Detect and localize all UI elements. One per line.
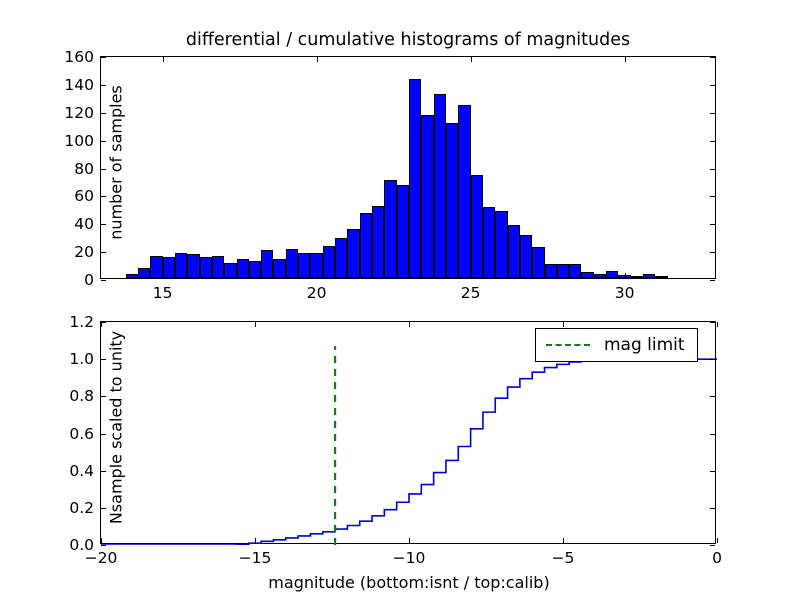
top-y-tick	[101, 224, 106, 225]
histogram-bar	[508, 225, 520, 278]
top-y-tick	[710, 141, 715, 142]
histogram-bar	[483, 207, 495, 278]
bottom-x-tick	[409, 322, 410, 327]
bottom-y-tick	[101, 359, 106, 360]
histogram-bar	[520, 235, 532, 278]
top-y-tick-label: 140	[64, 76, 94, 94]
histogram-bar	[397, 185, 409, 278]
histogram-bar	[495, 211, 507, 278]
top-histogram-axes: 02040608010012014016015202530 number of …	[100, 56, 716, 279]
histogram-bar	[163, 257, 175, 278]
histogram-bar	[249, 261, 261, 278]
histogram-bar	[421, 115, 433, 278]
top-y-tick-label: 120	[64, 104, 94, 122]
bottom-y-tick	[101, 396, 106, 397]
bottom-y-tick-label: 0.4	[69, 462, 94, 480]
histogram-bar	[298, 253, 310, 278]
bottom-y-tick-label: 0.8	[69, 387, 94, 405]
histogram-bar	[335, 238, 347, 278]
histogram-bar	[446, 123, 458, 278]
bottom-x-tick	[563, 538, 564, 543]
histogram-bar	[532, 247, 544, 278]
histogram-bar	[273, 259, 285, 279]
bottom-y-tick	[710, 545, 715, 546]
top-x-tick	[317, 57, 318, 62]
histogram-bar	[200, 257, 212, 278]
figure-canvas: differential / cumulative histograms of …	[0, 0, 800, 600]
bottom-x-tick-label: −10	[393, 549, 426, 567]
top-y-tick	[101, 141, 106, 142]
chart-title: differential / cumulative histograms of …	[100, 30, 716, 50]
histogram-bar	[237, 259, 249, 279]
bottom-x-tick	[717, 322, 718, 327]
top-x-tick	[471, 57, 472, 62]
histogram-bar	[434, 94, 446, 278]
histogram-bar	[187, 254, 199, 278]
bottom-y-tick	[710, 359, 715, 360]
histogram-bar	[471, 175, 483, 278]
bottom-x-tick	[255, 538, 256, 543]
histogram-bar	[631, 276, 643, 278]
legend: mag limit	[535, 328, 698, 362]
top-y-tick	[710, 85, 715, 86]
top-x-tick-label: 15	[153, 284, 173, 302]
top-y-tick	[710, 224, 715, 225]
cumulative-step-line	[101, 359, 717, 545]
bottom-y-tick	[101, 545, 106, 546]
top-y-tick	[710, 113, 715, 114]
bottom-y-tick-label: 0.2	[69, 499, 94, 517]
histogram-bar	[175, 253, 187, 278]
top-y-tick	[710, 169, 715, 170]
histogram-bar	[581, 272, 593, 278]
bottom-x-tick-label: −5	[552, 549, 575, 567]
bottom-y-tick	[710, 508, 715, 509]
top-y-tick	[101, 113, 106, 114]
top-y-tick-label: 160	[64, 48, 94, 66]
histogram-bar	[643, 274, 655, 278]
bottom-x-tick	[101, 322, 102, 327]
histogram-bar	[606, 271, 618, 278]
bottom-x-tick	[255, 322, 256, 327]
top-x-tick	[471, 273, 472, 278]
top-x-tick	[163, 57, 164, 62]
top-y-tick-label: 0	[84, 271, 94, 289]
top-x-tick-label: 30	[615, 284, 635, 302]
bottom-x-tick	[101, 538, 102, 543]
bottom-x-axis-label: magnitude (bottom:isnt / top:calib)	[101, 573, 717, 592]
top-y-tick	[101, 252, 106, 253]
top-y-tick	[710, 252, 715, 253]
bottom-y-tick	[101, 471, 106, 472]
histogram-bar	[569, 264, 581, 278]
top-y-tick	[710, 280, 715, 281]
histogram-bar	[126, 274, 138, 278]
top-plot-area: 02040608010012014016015202530	[101, 57, 715, 278]
top-y-tick	[101, 85, 106, 86]
mag-limit-legend-swatch-icon	[546, 344, 590, 346]
histogram-bar	[261, 250, 273, 278]
bottom-x-tick	[717, 538, 718, 543]
top-y-tick-label: 40	[74, 215, 94, 233]
bottom-x-tick-label: 0	[712, 549, 722, 567]
bottom-x-tick	[409, 538, 410, 543]
bottom-y-tick-label: 1.2	[69, 313, 94, 331]
top-y-tick	[710, 196, 715, 197]
top-y-tick	[101, 169, 106, 170]
histogram-bar	[150, 256, 162, 278]
top-y-tick-label: 80	[74, 160, 94, 178]
histogram-bar	[224, 263, 236, 278]
histogram-bar	[286, 249, 298, 278]
top-x-tick-label: 25	[461, 284, 481, 302]
top-y-tick-label: 20	[74, 243, 94, 261]
histogram-bar	[655, 276, 667, 278]
histogram-bar	[458, 105, 470, 278]
histogram-bar	[384, 180, 396, 278]
top-y-tick	[710, 57, 715, 58]
bottom-y-tick	[710, 434, 715, 435]
top-x-tick	[317, 273, 318, 278]
top-y-tick	[101, 280, 106, 281]
histogram-bar	[409, 79, 421, 278]
histogram-bar	[138, 268, 150, 278]
bottom-y-tick	[101, 508, 106, 509]
top-x-tick-label: 20	[307, 284, 327, 302]
histogram-bar	[347, 229, 359, 278]
histogram-bar	[212, 256, 224, 278]
bottom-y-tick-label: 0.6	[69, 425, 94, 443]
top-y-tick	[101, 57, 106, 58]
bottom-y-tick	[710, 471, 715, 472]
bottom-y-tick-label: 1.0	[69, 350, 94, 368]
histogram-bar	[594, 274, 606, 278]
top-y-tick	[101, 196, 106, 197]
bottom-y-tick	[101, 434, 106, 435]
histogram-bar	[557, 264, 569, 278]
histogram-bar	[372, 206, 384, 278]
bottom-cumulative-axes: 0.00.20.40.60.81.01.2−20−15−10−50 Nsampl…	[100, 321, 716, 544]
top-x-tick	[625, 57, 626, 62]
histogram-bar	[545, 264, 557, 278]
histogram-bar	[360, 213, 372, 279]
top-x-tick	[163, 273, 164, 278]
bottom-y-tick	[710, 396, 715, 397]
top-x-tick	[625, 273, 626, 278]
bottom-y-axis-label: Nsample scaled to unity	[107, 263, 126, 593]
legend-label-mag-limit: mag limit	[604, 335, 685, 355]
top-y-tick-label: 60	[74, 187, 94, 205]
bottom-y-tick	[710, 322, 715, 323]
bottom-x-tick	[563, 322, 564, 327]
bottom-x-tick-label: −15	[239, 549, 272, 567]
top-y-tick-label: 100	[64, 132, 94, 150]
histogram-bar	[323, 246, 335, 278]
